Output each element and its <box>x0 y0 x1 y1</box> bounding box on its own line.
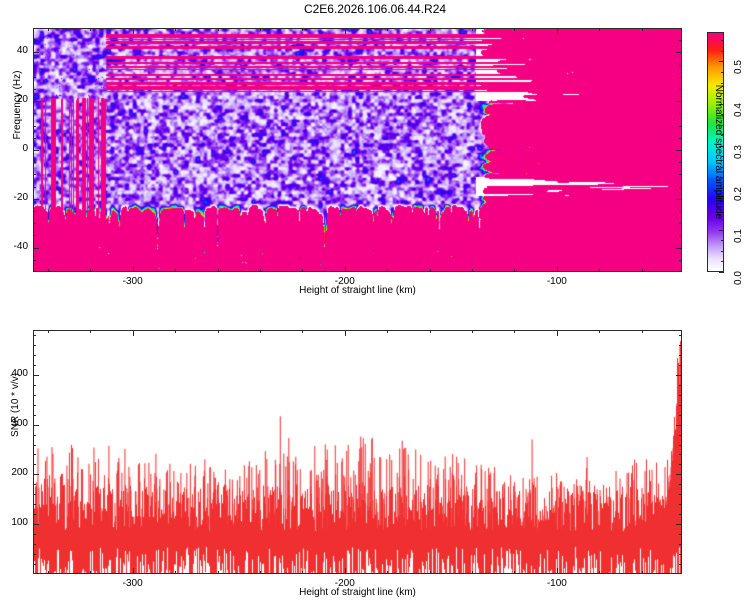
figure-root: C2E6.2026.106.06.44.R24 -300-200-1004020… <box>0 0 750 600</box>
snr-x-axis-label: Height of straight line (km) <box>33 587 682 598</box>
snr-ytick-label: 100 <box>0 517 28 528</box>
snr-y-axis-label: SNR (10 * v/v) <box>10 310 21 500</box>
snr-tick-labels: -300-200-100100200300400 <box>0 0 750 600</box>
